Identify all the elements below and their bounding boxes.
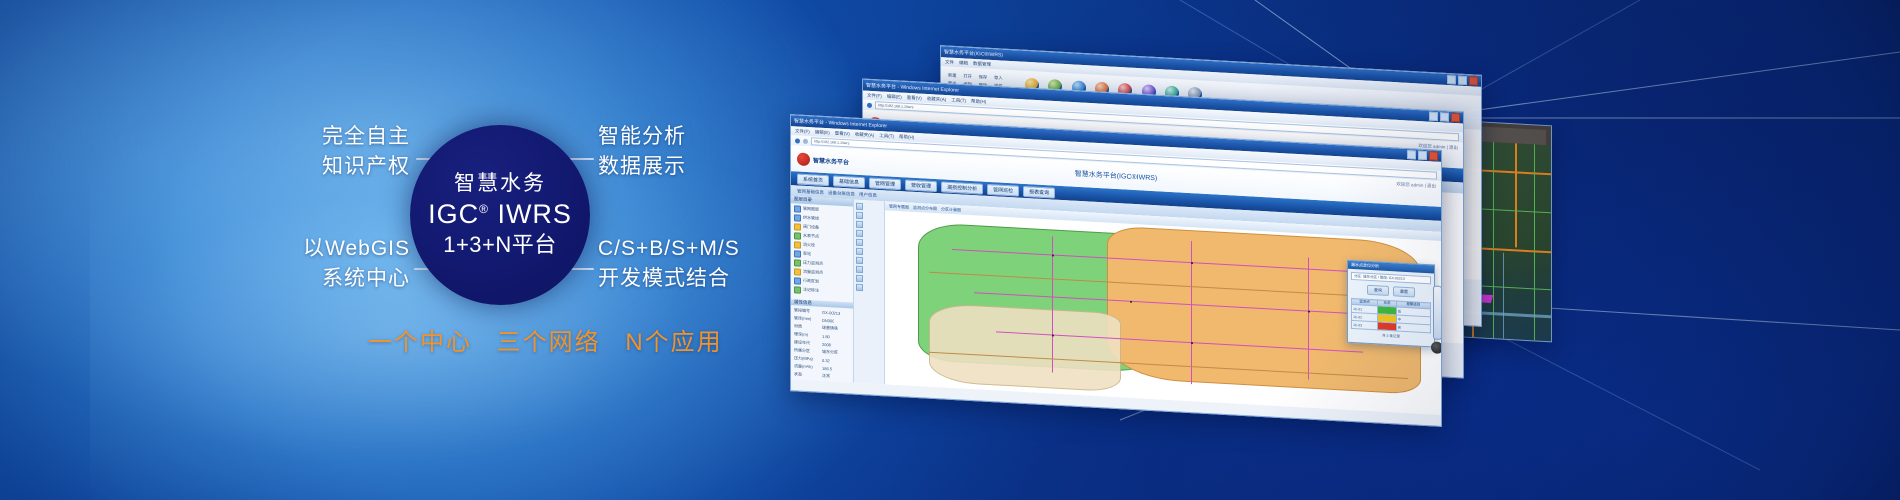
layer-panel[interactable]: 图层目录 管网图层 供水管线 阀门设备 水表节点 消火栓 泵站 压力监测点 流量… — [791, 196, 854, 382]
back-nav-icon[interactable] — [795, 138, 800, 143]
front-brand-text: 智慧水务平台 — [813, 155, 849, 166]
layer-label[interactable]: 消火栓 — [803, 242, 815, 249]
attribute-key: 管段编号 — [794, 307, 820, 314]
front-nav-5[interactable]: 管网巡检 — [987, 183, 1019, 196]
front-subnav-1[interactable]: 设备台账信息 — [828, 190, 855, 197]
attribute-key: 所属分区 — [794, 347, 820, 354]
measure-icon — [856, 239, 863, 246]
print-icon — [856, 257, 863, 264]
table-cell-status — [1378, 322, 1396, 331]
front-nav-6[interactable]: 报表查询 — [1023, 185, 1055, 198]
front-subnav-0[interactable]: 管网基础信息 — [797, 188, 824, 195]
ribbon-tab-2[interactable]: 数据管理 — [973, 60, 991, 67]
feature-label-top-left-line2: 知识产权 — [300, 152, 410, 182]
attribute-row: 状态正常 — [794, 371, 850, 380]
dialog-query-button[interactable]: 查询 — [1367, 285, 1389, 296]
layer-label[interactable]: 压力监测点 — [803, 260, 823, 267]
feature-label-bottom-right-line2: 开发模式结合 — [598, 264, 740, 294]
attribute-key: 状态 — [794, 371, 820, 378]
attribute-key: 埋深(m) — [794, 331, 820, 338]
front-window-buttons[interactable] — [1407, 150, 1438, 161]
layer-label[interactable]: 流量监测点 — [803, 269, 823, 276]
pan-icon — [856, 212, 863, 219]
ribbon-tool-1[interactable]: 打开 — [963, 73, 971, 79]
tagline-part-2: N个应用 — [625, 329, 722, 356]
layer-color-swatch — [794, 214, 801, 221]
label-icon — [856, 284, 863, 291]
middle-menu-0[interactable]: 文件(F) — [867, 92, 882, 99]
attribute-value: 球墨铸铁 — [822, 325, 838, 332]
search-icon — [856, 266, 863, 273]
hub-line-2: IGC® IWRS — [428, 199, 572, 230]
tool-layer[interactable] — [856, 275, 882, 283]
ribbon-tool-3[interactable]: 导入 — [994, 75, 1002, 81]
tool-pan[interactable] — [856, 212, 882, 220]
layer-label[interactable]: 泵站 — [803, 251, 811, 257]
layers-icon — [856, 275, 863, 282]
maximize-icon[interactable] — [1458, 76, 1467, 85]
attribute-value: 186.5 — [822, 365, 832, 371]
layer-item: 注记标注 — [794, 286, 850, 296]
dialog-reset-button[interactable]: 重置 — [1393, 287, 1415, 298]
layer-color-swatch — [794, 268, 801, 275]
attribute-value: GX-00213 — [822, 309, 840, 315]
layer-color-swatch — [794, 277, 801, 284]
front-menu-5[interactable]: 帮助(H) — [899, 134, 914, 141]
front-subnav-2[interactable]: 用户信息 — [859, 191, 877, 198]
front-nav-1[interactable]: 基础信息 — [833, 175, 865, 188]
feature-label-bottom-left-line1: 以WebGIS — [288, 234, 410, 264]
layer-label[interactable]: 水表节点 — [803, 233, 819, 240]
maximize-icon[interactable] — [1418, 151, 1427, 160]
back-nav-icon[interactable] — [867, 102, 872, 107]
feature-label-bottom-left-line2: 系统中心 — [288, 264, 410, 294]
dialog-table: 监测点 状态 报警级别 JC-01 低 — [1351, 298, 1431, 333]
pan-pad-icon[interactable] — [1431, 342, 1441, 355]
ribbon-tool-0[interactable]: 新建 — [948, 73, 956, 79]
attribute-value: 正常 — [822, 373, 830, 379]
tool-print[interactable] — [856, 257, 882, 265]
identify-icon — [856, 248, 863, 255]
layer-color-swatch — [794, 241, 801, 248]
map-view[interactable]: 管网专题图 监测点分布图 分区计量图 — [885, 201, 1441, 415]
tool-zoom-out[interactable] — [856, 230, 882, 238]
front-nav-2[interactable]: 管网管理 — [869, 177, 901, 190]
layer-color-swatch — [794, 286, 801, 293]
hub-circle: 智慧水务 IGC® IWRS 1+3+N平台 — [410, 125, 590, 305]
hub-line-3: 1+3+N平台 — [443, 232, 557, 258]
close-icon[interactable] — [1429, 151, 1438, 160]
layer-label[interactable]: 行政区划 — [803, 278, 819, 285]
hub-product-code: IGC — [428, 199, 479, 229]
minimize-icon[interactable] — [1429, 112, 1438, 121]
table-cell-name: JC-03 — [1352, 321, 1378, 330]
feature-label-bottom-left: 以WebGIS 系统中心 — [288, 234, 410, 294]
pointer-icon — [856, 203, 863, 210]
front-menu-4[interactable]: 工具(T) — [879, 132, 894, 139]
status-swatch-red — [1378, 323, 1395, 331]
hub-line-1: 智慧水务 — [454, 172, 546, 195]
map-zoom-slider[interactable] — [1431, 286, 1441, 365]
middle-menu-5[interactable]: 帮助(H) — [971, 98, 986, 105]
tagline-part-1: 三个网络 — [497, 329, 601, 356]
attribute-key: 材质 — [794, 323, 820, 330]
dialog-buttons[interactable]: 查询 重置 — [1351, 284, 1431, 298]
dialog-footer: 共 3 条记录 — [1351, 331, 1431, 343]
hub-product-suffix: IWRS — [497, 199, 572, 229]
ribbon-tab-0[interactable]: 文件 — [945, 59, 954, 65]
leak-analysis-dialog[interactable]: 漏水点定位分析 分区: 城东分区 / 管段: GX-00213 查询 重置 监测… — [1347, 260, 1435, 348]
layer-label[interactable]: 管网图层 — [803, 206, 819, 213]
dialog-content[interactable]: 分区: 城东分区 / 管段: GX-00213 查询 重置 监测点 状态 — [1348, 269, 1434, 347]
feature-label-top-left-line1: 完全自主 — [300, 122, 410, 152]
feature-label-top-left: 完全自主 知识产权 — [300, 122, 410, 182]
middle-menu-4[interactable]: 工具(T) — [951, 97, 966, 104]
front-menu-2[interactable]: 查看(V) — [835, 130, 850, 137]
table-cell-level: 高 — [1396, 323, 1430, 333]
banner-root: 流量曲线 文件(F) 编辑(E) 查看(V) 收藏夹(A) 流量曲线 — [0, 0, 1900, 500]
map-tab-2[interactable]: 分区计量图 — [941, 206, 961, 213]
window-front-browser[interactable]: 智慧水务平台 - Windows Internet Explorer 文件(F)… — [790, 114, 1442, 427]
front-nav-3[interactable]: 营收管理 — [905, 179, 937, 192]
front-menu-3[interactable]: 收藏夹(A) — [855, 131, 875, 138]
registered-trademark-icon: ® — [479, 202, 489, 216]
layer-tree[interactable]: 管网图层 供水管线 阀门设备 水表节点 消火栓 泵站 压力监测点 流量监测点 行… — [791, 203, 853, 298]
map-toolbox[interactable] — [854, 200, 885, 385]
layer-label[interactable]: 注记标注 — [803, 287, 819, 294]
layer-color-swatch — [794, 232, 801, 239]
minimize-icon[interactable] — [1407, 150, 1416, 159]
attribute-value: 城东分区 — [822, 349, 838, 356]
back-window-buttons[interactable] — [1447, 75, 1478, 86]
water-drop-logo-icon — [797, 152, 810, 166]
map-tab-1[interactable]: 监测点分布图 — [913, 204, 937, 211]
attribute-value: 1.80 — [822, 333, 830, 338]
front-brand-right: 欢迎您 admin | 退出 — [1396, 181, 1436, 189]
zoom-slider-track[interactable] — [1433, 286, 1442, 340]
map-tab-0[interactable]: 管网专题图 — [889, 203, 909, 210]
front-nav-4[interactable]: 漏损控制分析 — [941, 181, 983, 194]
feature-label-bottom-right: C/S+B/S+M/S 开发模式结合 — [598, 234, 740, 294]
layer-label[interactable]: 阀门设备 — [803, 224, 819, 231]
attribute-value: DN300 — [822, 317, 834, 323]
tool-identify[interactable] — [856, 248, 882, 256]
dialog-filter-input[interactable]: 分区: 城东分区 / 管段: GX-00213 — [1351, 272, 1431, 284]
tagline-part-0: 一个中心 — [368, 329, 472, 356]
front-body: 图层目录 管网图层 供水管线 阀门设备 水表节点 消火栓 泵站 压力监测点 流量… — [791, 196, 1441, 415]
banner-tagline: 一个中心 三个网络 N个应用 — [368, 322, 723, 357]
map-canvas[interactable]: 漏水点定位分析 分区: 城东分区 / 管段: GX-00213 查询 重置 监测… — [885, 210, 1441, 415]
layer-color-swatch — [794, 223, 801, 230]
maximize-icon[interactable] — [1440, 112, 1449, 121]
front-brand-center: 智慧水务平台(IGC®IWRS) — [1075, 169, 1158, 184]
feature-label-bottom-right-line1: C/S+B/S+M/S — [598, 234, 740, 264]
screenshot-stack: 流量曲线 文件(F) 编辑(E) 查看(V) 收藏夹(A) 流量曲线 — [790, 40, 1690, 370]
zoom-in-icon — [856, 221, 863, 228]
front-nav-0[interactable]: 系统首页 — [797, 173, 829, 186]
feature-label-top-right-line1: 智能分析 — [598, 122, 686, 152]
middle-menu-2[interactable]: 查看(V) — [907, 94, 922, 101]
middle-window-buttons[interactable] — [1429, 112, 1460, 123]
tool-measure[interactable] — [856, 239, 882, 247]
attribute-key: 压力(MPa) — [794, 355, 820, 362]
attribute-list: 管段编号GX-00213 管径(mm)DN300 材质球墨铸铁 埋深(m)1.8… — [791, 305, 853, 382]
feature-label-top-right-line2: 数据展示 — [598, 152, 686, 182]
front-menu-0[interactable]: 文件(F) — [795, 128, 810, 135]
minimize-icon[interactable] — [1447, 75, 1456, 84]
zoom-out-icon — [856, 230, 863, 237]
close-icon[interactable] — [1451, 113, 1460, 122]
layer-color-swatch — [794, 259, 801, 266]
middle-menu-3[interactable]: 收藏夹(A) — [927, 96, 947, 103]
forward-nav-icon[interactable] — [803, 138, 808, 143]
layer-color-swatch — [794, 250, 801, 257]
attribute-value: 2008 — [822, 341, 831, 346]
layer-color-swatch — [794, 205, 801, 212]
feature-label-top-right: 智能分析 数据展示 — [598, 122, 686, 182]
ribbon-tool-2[interactable]: 保存 — [979, 74, 987, 80]
tool-query[interactable] — [856, 266, 882, 274]
attribute-key: 建设年代 — [794, 339, 820, 346]
tool-label[interactable] — [856, 284, 882, 292]
ribbon-tab-1[interactable]: 编辑 — [959, 60, 968, 66]
attribute-key: 管径(mm) — [794, 315, 820, 322]
close-icon[interactable] — [1469, 76, 1478, 85]
tool-zoom-in[interactable] — [856, 221, 882, 229]
layer-label[interactable]: 供水管线 — [803, 215, 819, 222]
map-zone-tan — [929, 303, 1120, 392]
middle-menu-1[interactable]: 编辑(E) — [887, 93, 902, 100]
tool-pointer[interactable] — [856, 203, 882, 211]
attribute-key: 流量(m³/h) — [794, 363, 820, 370]
attribute-value: 0.32 — [822, 357, 830, 362]
front-menu-1[interactable]: 编辑(E) — [815, 129, 830, 136]
